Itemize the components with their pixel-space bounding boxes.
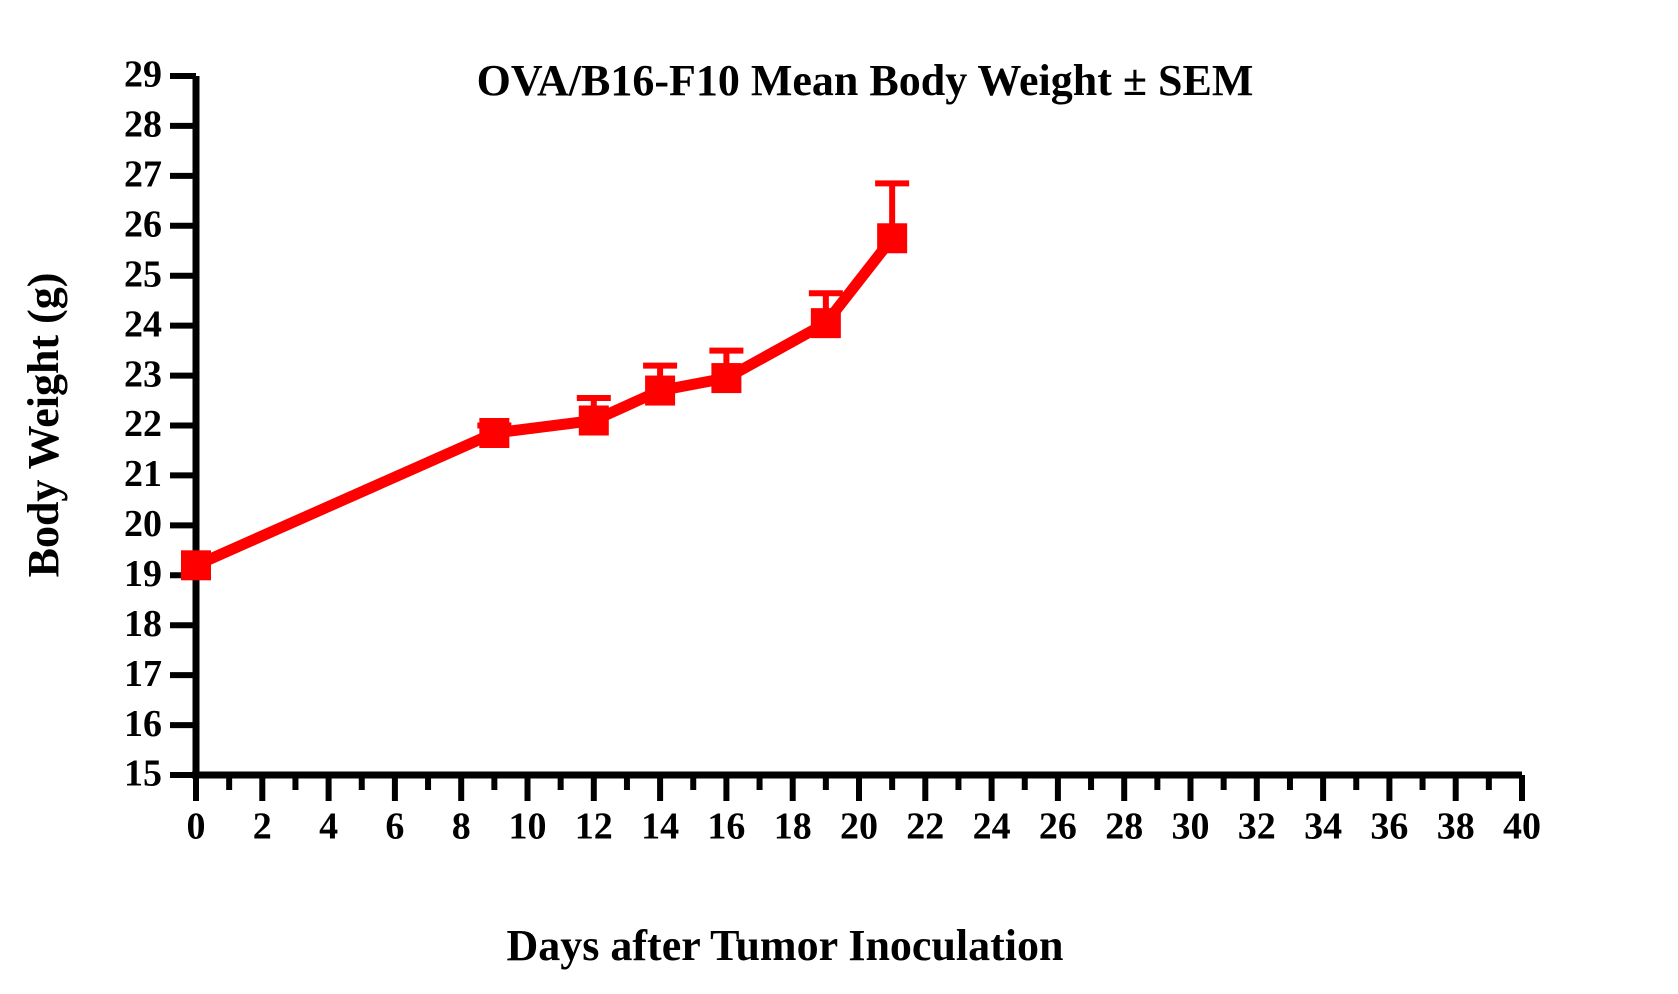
y-tick-label: 21 [124,453,162,495]
x-tick-label: 0 [187,805,206,847]
x-tick-label: 24 [973,805,1011,847]
y-tick-label: 19 [124,553,162,595]
y-tick-label: 28 [124,104,162,146]
y-tick-label: 27 [124,154,162,196]
data-point-marker [711,363,741,393]
x-tick-label: 26 [1039,805,1077,847]
y-axis-tick-labels: 151617181920212223242526272829 [124,54,162,795]
x-tick-label: 40 [1503,805,1541,847]
data-point-marker [645,376,675,406]
body-weight-line-chart: 151617181920212223242526272829 024681012… [0,0,1678,994]
x-tick-label: 4 [319,805,338,847]
data-point-marker [479,418,509,448]
y-tick-label: 26 [124,204,162,246]
y-axis-title: Body Weight (g) [19,273,68,578]
data-point-marker [811,308,841,338]
x-tick-label: 16 [707,805,745,847]
y-tick-label: 23 [124,353,162,395]
x-tick-label: 36 [1370,805,1408,847]
x-tick-label: 30 [1172,805,1210,847]
x-tick-label: 22 [906,805,944,847]
x-tick-label: 14 [641,805,679,847]
x-tick-label: 18 [774,805,812,847]
y-tick-label: 20 [124,503,162,545]
chart-background [0,0,1678,994]
y-tick-label: 22 [124,403,162,445]
x-axis-title: Days after Tumor Inoculation [506,921,1063,970]
y-tick-label: 18 [124,603,162,645]
x-tick-label: 38 [1437,805,1475,847]
x-tick-label: 10 [509,805,547,847]
y-tick-label: 15 [124,753,162,795]
data-point-marker [181,550,211,580]
x-tick-label: 12 [575,805,613,847]
data-point-marker [579,406,609,436]
x-tick-label: 20 [840,805,878,847]
chart-title: OVA/B16-F10 Mean Body Weight ± SEM [477,56,1254,105]
x-tick-label: 34 [1304,805,1342,847]
y-tick-label: 25 [124,253,162,295]
x-tick-label: 32 [1238,805,1276,847]
data-point-marker [877,223,907,253]
x-axis-tick-labels: 0246810121416182022242628303234363840 [187,805,1542,847]
y-tick-label: 24 [124,303,162,345]
y-tick-label: 17 [124,653,162,695]
x-tick-label: 6 [385,805,404,847]
chart-page: 151617181920212223242526272829 024681012… [0,0,1678,994]
x-axis-ticks [196,775,1522,801]
x-tick-label: 2 [253,805,272,847]
y-tick-label: 16 [124,703,162,745]
x-tick-label: 8 [452,805,471,847]
y-tick-label: 29 [124,54,162,96]
x-tick-label: 28 [1105,805,1143,847]
